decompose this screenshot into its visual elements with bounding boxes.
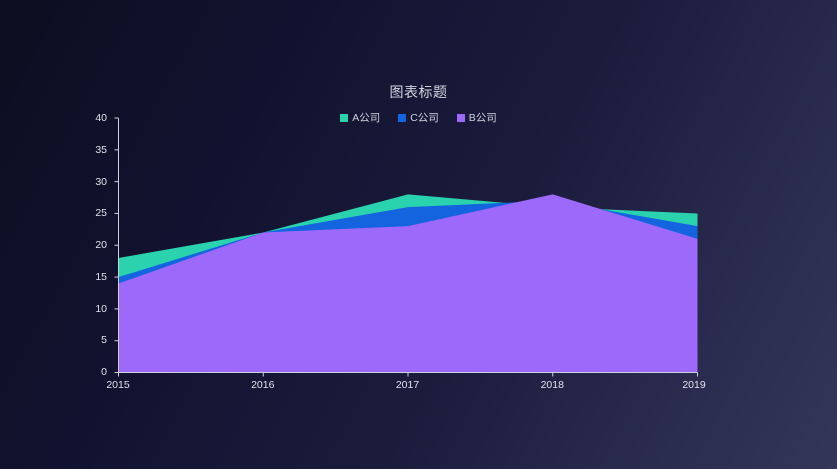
y-axis-labels: 40 35 30 25 20 15 10 5 0 bbox=[78, 0, 107, 469]
x-tick-2017: 2017 bbox=[396, 379, 419, 391]
y-tick-0: 0 bbox=[101, 366, 107, 378]
x-axis-labels: 2015 2016 2017 2018 2019 bbox=[0, 379, 837, 395]
y-tick-5: 5 bbox=[101, 334, 107, 346]
y-tick-40: 40 bbox=[95, 112, 107, 124]
chart-canvas: 图表标题 A公司 C公司 B公司 40 35 30 25 20 bbox=[0, 0, 837, 469]
y-tick-35: 35 bbox=[95, 144, 107, 156]
area-chart-plot bbox=[0, 0, 837, 469]
y-tick-10: 10 bbox=[95, 303, 107, 315]
x-tick-2016: 2016 bbox=[251, 379, 274, 391]
y-tick-15: 15 bbox=[95, 271, 107, 283]
y-tick-20: 20 bbox=[95, 239, 107, 251]
x-tick-2018: 2018 bbox=[541, 379, 564, 391]
y-tick-30: 30 bbox=[95, 176, 107, 188]
series-areas bbox=[119, 194, 698, 372]
x-tick-2015: 2015 bbox=[106, 379, 129, 391]
y-tick-25: 25 bbox=[95, 207, 107, 219]
x-tick-2019: 2019 bbox=[682, 379, 705, 391]
